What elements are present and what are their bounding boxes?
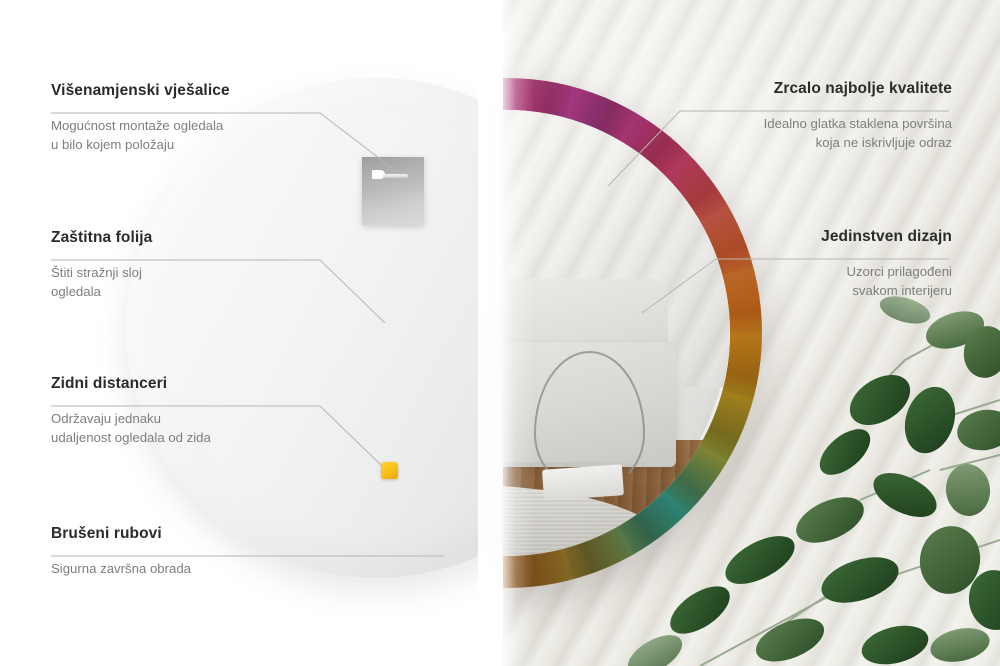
callout-unique-design-title: Jedinstven dizajn — [821, 228, 952, 246]
callout-hangers: Višenamjenski vješalice Mogućnost montaž… — [51, 82, 230, 154]
mirror-glass — [503, 110, 730, 556]
callout-hangers-desc: Mogućnost montaže ogledala u bilo kojem … — [51, 117, 230, 154]
callout-wall-spacers: Zidni distanceri Održavaju jednaku udalj… — [51, 375, 211, 447]
reflected-chair-seat — [542, 464, 624, 501]
callout-unique-design: Jedinstven dizajn Uzorci prilagođeni sva… — [821, 228, 952, 300]
keyhole-slot-icon — [372, 170, 408, 179]
infographic-canvas: Višenamjenski vješalice Mogućnost montaž… — [0, 0, 1000, 666]
callout-wall-spacers-desc: Održavaju jednaku udaljenost ogledala od… — [51, 410, 211, 447]
callout-protective-film-title: Zaštitna folija — [51, 229, 152, 247]
callout-polished-edges: Brušeni rubovi Sigurna završna obrada — [51, 525, 191, 579]
callout-best-quality-mirror: Zrcalo najbolje kvalitete Idealno glatka… — [764, 80, 952, 152]
callout-polished-edges-title: Brušeni rubovi — [51, 525, 191, 543]
hanger-plate — [362, 157, 424, 225]
callout-best-quality-mirror-desc: Idealno glatka staklena površina koja ne… — [764, 115, 952, 152]
callout-wall-spacers-title: Zidni distanceri — [51, 375, 211, 393]
wall-spacer — [381, 462, 398, 479]
callout-best-quality-mirror-title: Zrcalo najbolje kvalitete — [764, 80, 952, 98]
callout-unique-design-desc: Uzorci prilagođeni svakom interijeru — [821, 263, 952, 300]
callout-polished-edges-desc: Sigurna završna obrada — [51, 560, 191, 579]
callout-hangers-title: Višenamjenski vješalice — [51, 82, 230, 100]
callout-protective-film-desc: Štiti stražnji sloj ogledala — [51, 264, 152, 301]
callout-protective-film: Zaštitna folija Štiti stražnji sloj ogle… — [51, 229, 152, 301]
